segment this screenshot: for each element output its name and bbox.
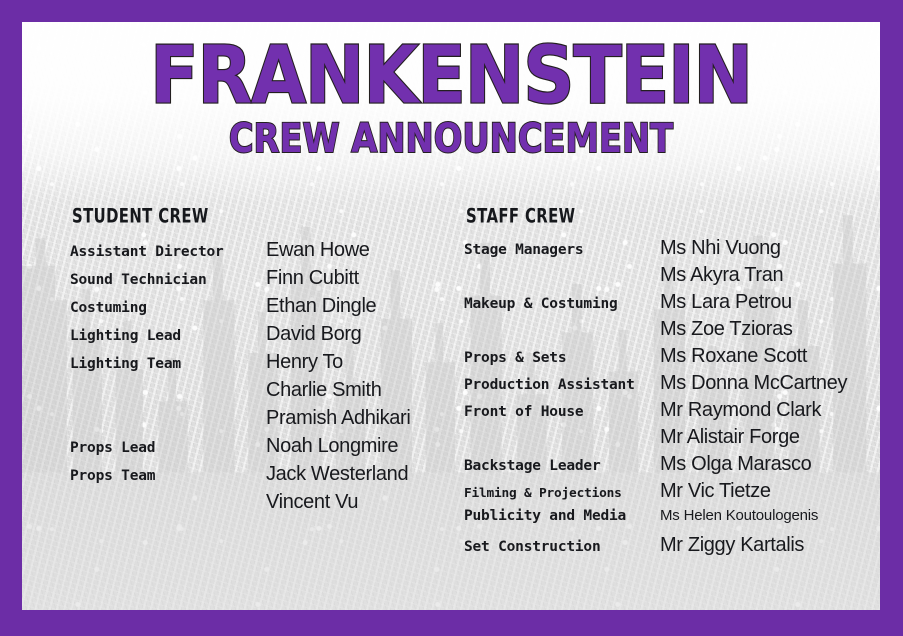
table-row: Backstage Leader Ms Olga Marasco bbox=[464, 453, 864, 480]
person-name: Ethan Dingle bbox=[266, 295, 376, 318]
role-label: Sound Technician bbox=[70, 272, 266, 288]
table-row: Mr Alistair Forge bbox=[464, 426, 864, 453]
table-row: Ms Zoe Tzioras bbox=[464, 318, 864, 345]
table-row: Pramish Adhikari bbox=[70, 407, 470, 435]
person-name: Ms Olga Marasco bbox=[660, 453, 811, 476]
student-crew-rows: Assistant Director Ewan Howe Sound Techn… bbox=[70, 239, 470, 519]
role-label: Stage Managers bbox=[464, 242, 660, 258]
table-row: Costuming Ethan Dingle bbox=[70, 295, 470, 323]
table-row: Vincent Vu bbox=[70, 491, 470, 519]
table-row: Makeup & Costuming Ms Lara Petrou bbox=[464, 291, 864, 318]
table-row: Lighting Team Henry To bbox=[70, 351, 470, 379]
page-subtitle: CREW ANNOUNCEMENT bbox=[22, 118, 880, 158]
person-name: Charlie Smith bbox=[266, 379, 382, 402]
person-name: Finn Cubitt bbox=[266, 267, 359, 290]
person-name: Ms Lara Petrou bbox=[660, 291, 792, 314]
role-label: Production Assistant bbox=[464, 377, 660, 393]
poster-canvas: FRANKENSTEIN CREW ANNOUNCEMENT STUDENT C… bbox=[22, 22, 880, 610]
table-row: Charlie Smith bbox=[70, 379, 470, 407]
staff-crew-heading: STAFF CREW bbox=[466, 204, 836, 227]
person-name: Pramish Adhikari bbox=[266, 407, 410, 430]
table-row: Filming & Projections Mr Vic Tietze bbox=[464, 480, 864, 507]
role-label: Publicity and Media bbox=[464, 508, 660, 524]
person-name: Mr Alistair Forge bbox=[660, 426, 800, 449]
person-name: Noah Longmire bbox=[266, 435, 398, 458]
student-crew-heading: STUDENT CREW bbox=[72, 204, 442, 227]
role-label: Backstage Leader bbox=[464, 458, 660, 474]
person-name: Ms Donna McCartney bbox=[660, 372, 847, 395]
role-label: Set Construction bbox=[464, 539, 660, 555]
person-name: Jack Westerland bbox=[266, 463, 408, 486]
table-row: Sound Technician Finn Cubitt bbox=[70, 267, 470, 295]
person-name: Ms Nhi Vuong bbox=[660, 237, 781, 260]
role-label: Filming & Projections bbox=[464, 486, 660, 501]
person-name: Mr Raymond Clark bbox=[660, 399, 821, 422]
table-row: Stage Managers Ms Nhi Vuong bbox=[464, 237, 864, 264]
role-label: Props Team bbox=[70, 468, 266, 484]
table-row: Props & Sets Ms Roxane Scott bbox=[464, 345, 864, 372]
title-block: FRANKENSTEIN CREW ANNOUNCEMENT bbox=[22, 40, 880, 151]
table-row: Props Lead Noah Longmire bbox=[70, 435, 470, 463]
role-label: Assistant Director bbox=[70, 244, 266, 260]
person-name: Mr Ziggy Kartalis bbox=[660, 534, 804, 557]
table-row: Ms Akyra Tran bbox=[464, 264, 864, 291]
person-name: Ms Roxane Scott bbox=[660, 345, 807, 368]
role-label: Props & Sets bbox=[464, 350, 660, 366]
page-title: FRANKENSTEIN bbox=[22, 40, 880, 113]
table-row: Set Construction Mr Ziggy Kartalis bbox=[464, 534, 864, 561]
poster-frame: FRANKENSTEIN CREW ANNOUNCEMENT STUDENT C… bbox=[0, 0, 903, 636]
staff-crew-rows: Stage Managers Ms Nhi Vuong Ms Akyra Tra… bbox=[464, 237, 864, 561]
role-label: Lighting Team bbox=[70, 356, 266, 372]
role-label: Costuming bbox=[70, 300, 266, 316]
table-row: Publicity and Media Ms Helen Koutoulogen… bbox=[464, 507, 864, 534]
role-label: Props Lead bbox=[70, 440, 266, 456]
person-name: Mr Vic Tietze bbox=[660, 480, 771, 503]
table-row: Assistant Director Ewan Howe bbox=[70, 239, 470, 267]
role-label: Lighting Lead bbox=[70, 328, 266, 344]
staff-crew-section: STAFF CREW Stage Managers Ms Nhi Vuong M… bbox=[464, 204, 864, 561]
role-label: Front of House bbox=[464, 404, 660, 420]
table-row: Lighting Lead David Borg bbox=[70, 323, 470, 351]
person-name: Ms Helen Koutoulogenis bbox=[660, 507, 818, 524]
person-name: Henry To bbox=[266, 351, 343, 374]
table-row: Front of House Mr Raymond Clark bbox=[464, 399, 864, 426]
person-name: Ms Akyra Tran bbox=[660, 264, 783, 287]
table-row: Production Assistant Ms Donna McCartney bbox=[464, 372, 864, 399]
student-crew-section: STUDENT CREW Assistant Director Ewan How… bbox=[70, 204, 470, 519]
role-label: Makeup & Costuming bbox=[464, 296, 660, 312]
table-row: Props Team Jack Westerland bbox=[70, 463, 470, 491]
person-name: Ewan Howe bbox=[266, 239, 370, 262]
person-name: Ms Zoe Tzioras bbox=[660, 318, 793, 341]
person-name: David Borg bbox=[266, 323, 361, 346]
person-name: Vincent Vu bbox=[266, 491, 358, 514]
